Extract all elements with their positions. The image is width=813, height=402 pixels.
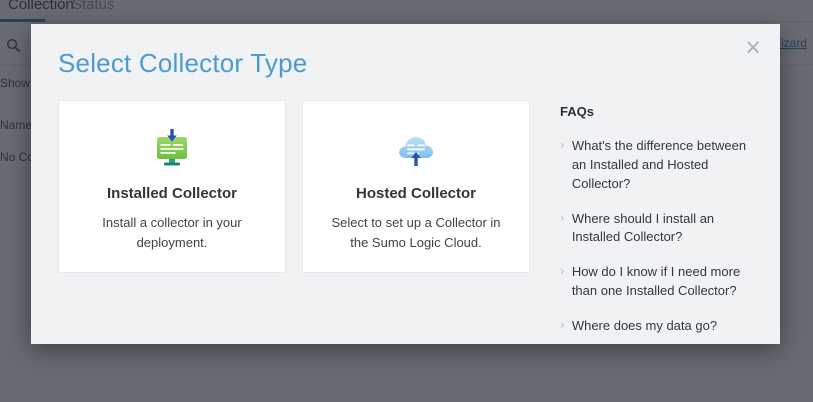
card-title-hosted: Hosted Collector bbox=[356, 185, 476, 202]
select-collector-type-dialog: × Select Collector Type bbox=[31, 24, 780, 344]
faq-item[interactable]: › How do I know if I need more than one … bbox=[560, 263, 760, 301]
chevron-right-icon: › bbox=[560, 137, 565, 194]
card-installed-collector[interactable]: Installed Collector Install a collector … bbox=[58, 100, 286, 273]
faq-link[interactable]: Where should I install an Installed Coll… bbox=[572, 210, 760, 248]
faqs-panel: FAQs › What's the difference between an … bbox=[560, 100, 760, 324]
card-description-installed: Install a collector in your deployment. bbox=[82, 213, 262, 252]
cloud-upload-icon bbox=[394, 127, 438, 171]
card-description-hosted: Select to set up a Collector in the Sumo… bbox=[326, 213, 506, 252]
faq-link[interactable]: What's the difference between an Install… bbox=[572, 137, 760, 194]
chevron-right-icon: › bbox=[560, 263, 565, 301]
faqs-heading: FAQs bbox=[560, 104, 760, 119]
faq-link[interactable]: How do I know if I need more than one In… bbox=[572, 263, 760, 301]
dialog-title: Select Collector Type bbox=[58, 48, 307, 79]
faq-link[interactable]: Where does my data go? bbox=[572, 317, 717, 336]
card-hosted-collector[interactable]: Hosted Collector Select to set up a Coll… bbox=[302, 100, 530, 273]
faq-item[interactable]: › Where does my data go? bbox=[560, 317, 760, 336]
faq-item[interactable]: › What's the difference between an Insta… bbox=[560, 137, 760, 194]
chevron-right-icon: › bbox=[560, 210, 565, 248]
collector-type-cards: Installed Collector Install a collector … bbox=[58, 100, 530, 324]
monitor-download-icon bbox=[150, 127, 194, 171]
chevron-right-icon: › bbox=[560, 317, 565, 336]
close-icon[interactable]: × bbox=[740, 34, 766, 60]
faq-item[interactable]: › Where should I install an Installed Co… bbox=[560, 210, 760, 248]
dialog-body: Installed Collector Install a collector … bbox=[58, 100, 760, 324]
card-title-installed: Installed Collector bbox=[107, 185, 237, 202]
